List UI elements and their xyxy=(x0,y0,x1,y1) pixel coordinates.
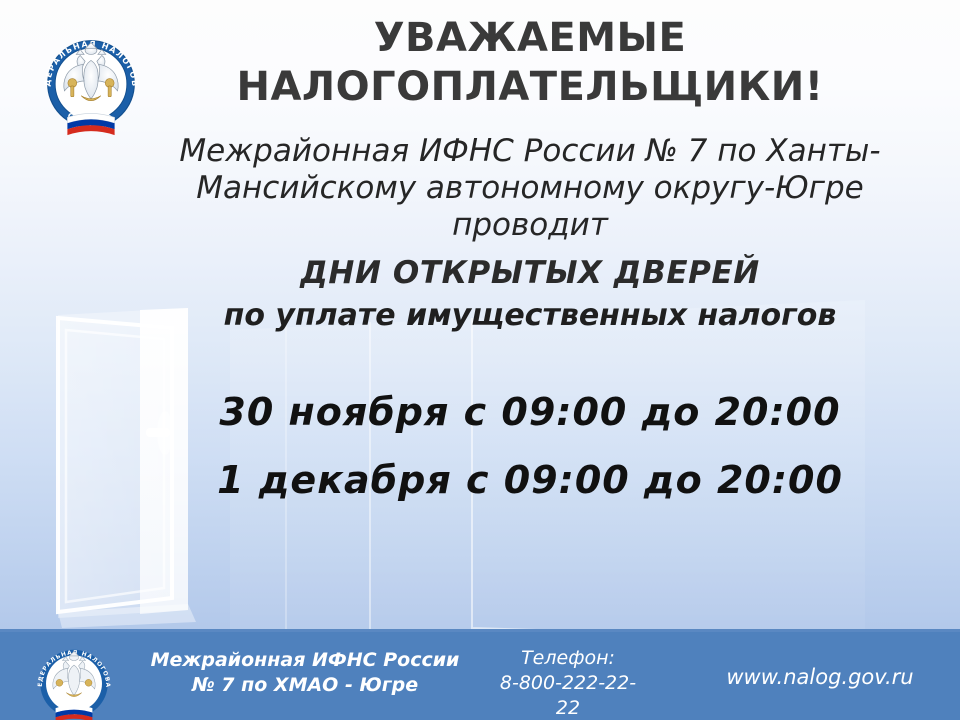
footer-office-name: Межрайонная ИФНС России № 7 по ХМАО - Юг… xyxy=(140,648,470,698)
fns-emblem-icon: ФЕДЕРАЛЬНАЯ НАЛОГОВАЯ СЛУЖБА xyxy=(32,22,150,142)
title-line-1: УВАЖАЕМЫЕ xyxy=(150,14,910,63)
footer-phone-label: Телефон: xyxy=(478,646,658,671)
footer-phone-number-line-1: 8-800-222-22- xyxy=(478,671,658,696)
event-headline: ДНИ ОТКРЫТЫХ ДВЕРЕЙ xyxy=(120,255,940,291)
organization-line-1: Межрайонная ИФНС России № 7 по Ханты- xyxy=(120,133,940,170)
footer-fns-emblem-logo: ФЕДЕРАЛЬНАЯ НАЛОГОВАЯ СЛУЖБА xyxy=(28,636,120,720)
page-title: УВАЖАЕМЫЕ НАЛОГОПЛАТЕЛЬЩИКИ! xyxy=(150,14,910,112)
footer-phone-number-line-2: 22 xyxy=(478,696,658,720)
organization-line-2: Мансийскому автономному округу-Югре xyxy=(120,170,940,207)
organization-line-3: проводит xyxy=(120,207,940,244)
organization-block: Межрайонная ИФНС России № 7 по Ханты- Ма… xyxy=(120,133,940,244)
footer-bar: ФЕДЕРАЛЬНАЯ НАЛОГОВАЯ СЛУЖБА xyxy=(0,629,960,720)
russian-flag-ribbon-icon xyxy=(56,705,93,720)
footer-website-link[interactable]: www.nalog.gov.ru xyxy=(700,664,940,690)
russian-flag-ribbon-icon xyxy=(67,113,114,135)
date-line: 30 ноября с 09:00 до 20:00 xyxy=(120,378,940,446)
fns-emblem-logo: ФЕДЕРАЛЬНАЯ НАЛОГОВАЯ СЛУЖБА xyxy=(32,22,150,142)
dates-block: 30 ноября с 09:00 до 20:00 1 декабря с 0… xyxy=(120,378,940,514)
title-line-2: НАЛОГОПЛАТЕЛЬЩИКИ! xyxy=(150,63,910,112)
event-subject: по уплате имущественных налогов xyxy=(120,298,940,334)
date-line: 1 декабря с 09:00 до 20:00 xyxy=(120,446,940,514)
footer-office-line-1: Межрайонная ИФНС России xyxy=(140,648,470,673)
footer-phone: Телефон: 8-800-222-22- 22 xyxy=(478,646,658,720)
footer-office-line-2: № 7 по ХМАО - Югре xyxy=(140,673,470,698)
fns-emblem-icon-small: ФЕДЕРАЛЬНАЯ НАЛОГОВАЯ СЛУЖБА xyxy=(28,636,120,720)
poster-canvas: ФЕДЕРАЛЬНАЯ НАЛОГОВАЯ СЛУЖБА xyxy=(0,0,960,720)
